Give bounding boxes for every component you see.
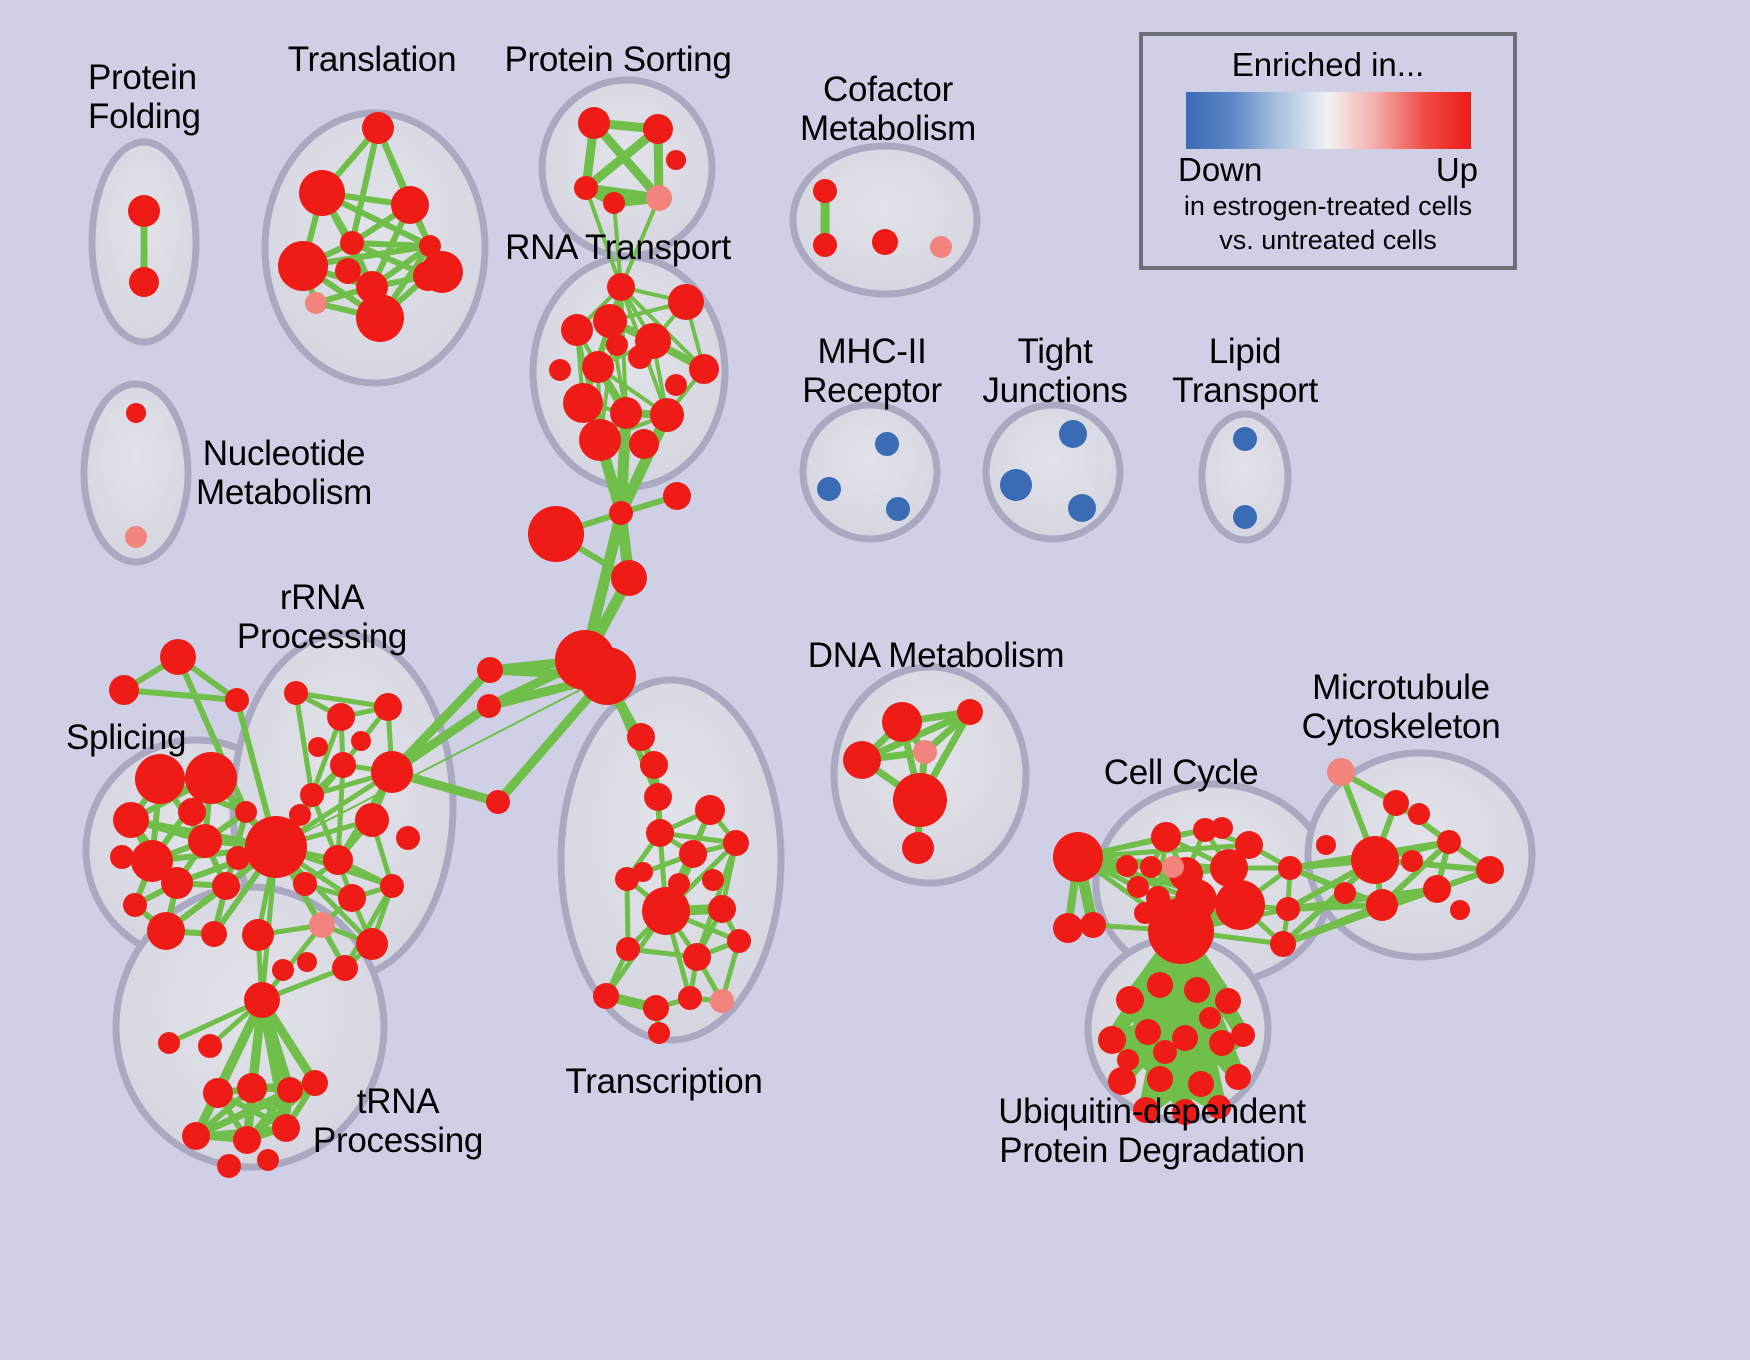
- cluster-label-protein-sorting: Protein Sorting: [504, 40, 731, 79]
- cluster-label-protein-folding: Protein Folding: [88, 58, 201, 136]
- cluster-label-lipid-transport: Lipid Transport: [1172, 332, 1318, 410]
- cluster-label-trna-processing: tRNA Processing: [313, 1082, 483, 1160]
- legend-caption-line2: vs. untreated cells: [1219, 225, 1437, 257]
- legend-endpoint-labels: Down Up: [1178, 151, 1478, 189]
- ellipse-mhc-ii: [803, 405, 937, 539]
- cluster-label-dna-metabolism: DNA Metabolism: [808, 636, 1064, 675]
- legend-color-gradient-bar: [1186, 92, 1471, 149]
- enrichment-network-figure: Protein Folding Translation Protein Sort…: [0, 0, 1750, 1360]
- cluster-label-microtubule-cytoskeleton: Microtubule Cytoskeleton: [1302, 668, 1501, 746]
- cluster-label-splicing: Splicing: [66, 718, 186, 757]
- cluster-label-rna-transport: RNA Transport: [505, 228, 731, 267]
- legend-low-label: Down: [1178, 151, 1262, 189]
- cluster-label-tight-junctions: Tight Junctions: [982, 332, 1127, 410]
- legend-panel: Enriched in... Down Up in estrogen-treat…: [1139, 32, 1517, 270]
- cluster-label-translation: Translation: [288, 40, 457, 79]
- ellipse-tight-junctions: [986, 405, 1120, 539]
- cluster-label-mhc-ii-receptor: MHC-II Receptor: [802, 332, 942, 410]
- cluster-label-rrna-processing: rRNA Processing: [237, 578, 407, 656]
- cluster-label-ubiquitin-degradation: Ubiquitin-dependent Protein Degradation: [998, 1092, 1306, 1170]
- legend-title: Enriched in...: [1232, 46, 1425, 84]
- cluster-label-cell-cycle: Cell Cycle: [1104, 753, 1259, 792]
- cluster-label-nucleotide-metabolism: Nucleotide Metabolism: [196, 434, 372, 512]
- legend-high-label: Up: [1436, 151, 1478, 189]
- legend-caption-line1: in estrogen-treated cells: [1184, 191, 1472, 223]
- cluster-label-cofactor-metabolism: Cofactor Metabolism: [800, 70, 976, 148]
- cluster-label-transcription: Transcription: [565, 1062, 762, 1101]
